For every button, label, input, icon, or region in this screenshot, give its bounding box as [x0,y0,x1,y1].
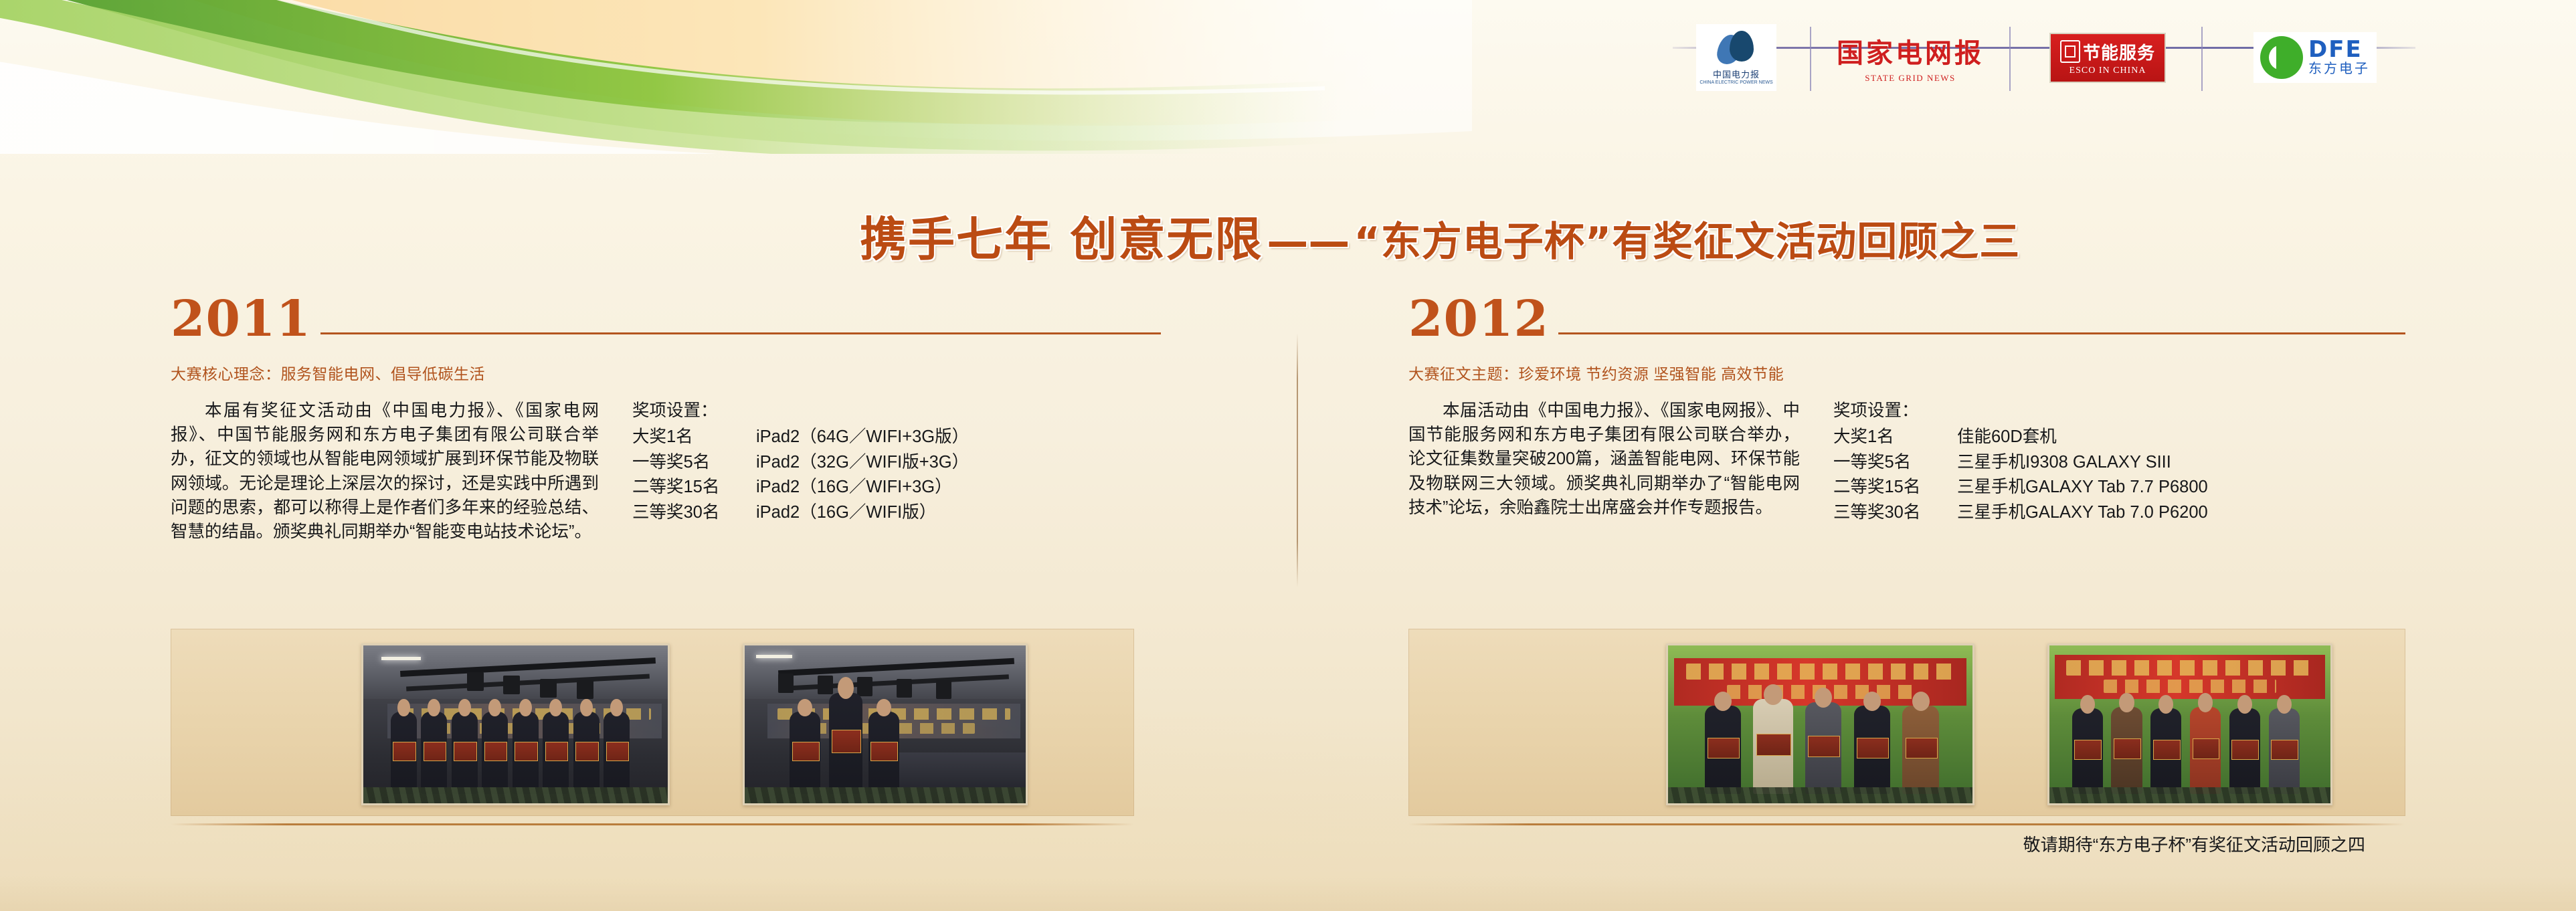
logo-separator [2201,27,2203,91]
year-label: 2011 [171,294,311,344]
award-prize: iPad2（32G／WIFI版+3G） [756,450,969,475]
poster-root: 中国电力报 CHINA ELECTRIC POWER NEWS 国家电网报 ST… [0,0,2576,911]
award-row: 一等奖5名 iPad2（32G／WIFI版+3G） [632,450,969,475]
photo-2011-2 [743,643,1028,805]
logo-en-label: DFE [2308,38,2370,61]
logo-cn-label: 国家电网报 [1837,31,1984,70]
band-rule [171,823,1134,825]
award-rank: 三等奖30名 [1833,500,1957,525]
section-theme: 大赛核心理念：服务智能电网、倡导低碳生活 [171,361,1161,384]
award-prize: iPad2（16G／WIFI版） [756,500,936,525]
photo-band-2011 [171,629,1134,816]
logo-dongfang-electronics: DFE 东方电子 [2218,24,2412,91]
award-prize: 佳能60D套机 [1957,425,2057,449]
logo-en-label: ESCO IN CHINA [2060,66,2155,76]
band-rule [1408,823,2405,825]
awards-title: 奖项设置： [632,399,969,423]
awards-list: 奖项设置： 大奖1名 佳能60D套机 一等奖5名 三星手机I9308 GALAX… [1833,399,2208,525]
esco-seal-icon [2060,40,2080,63]
logo-separator [1810,27,1811,91]
headline-dash: —— [1263,217,1354,266]
award-prize: 三星手机GALAXY Tab 7.0 P6200 [1957,500,2208,525]
section-paragraph: 本届有奖征文活动由《中国电力报》、《国家电网报》、中国节能服务网和东方电子集团有… [171,399,599,544]
dfe-e-mark-icon [2260,36,2303,79]
award-rank: 二等奖15名 [1833,475,1957,500]
logo-en-label: STATE GRID NEWS [1865,73,1956,84]
award-rank: 一等奖5名 [632,450,756,475]
logo-en-label: CHINA ELECTRIC POWER NEWS [1699,80,1772,85]
award-rank: 一等奖5名 [1833,450,1957,475]
page-title: 携手七年 创意无限——“东方电子杯”有奖征文活动回顾之三 [860,202,2020,270]
award-rank: 二等奖15名 [632,475,756,500]
logo-cn-label: 节能服务 [2083,39,2155,64]
partner-logo-bar: 中国电力报 CHINA ELECTRIC POWER NEWS 国家电网报 ST… [1673,9,2462,83]
logo-esco-in-china: 节能服务 ESCO IN CHINA [2024,24,2191,91]
footer-note: 敬请期待“东方电子杯”有奖征文活动回顾之四 [2023,831,2365,856]
paragraph-text: 本届有奖征文活动由《中国电力报》、《国家电网报》、中国节能服务网和东方电子集团有… [171,399,599,544]
award-prize: 三星手机I9308 GALAXY SIII [1957,450,2171,475]
award-prize: 三星手机GALAXY Tab 7.7 P6800 [1957,475,2208,500]
award-row: 大奖1名 佳能60D套机 [1833,425,2208,449]
paragraph-text: 本届活动由《中国电力报》、《国家电网报》、中国节能服务网和东方电子集团有限公司联… [1408,399,1800,520]
year-underline [1558,332,2405,334]
photo-band-2012 [1408,629,2405,816]
stage-banner [2055,655,2324,699]
logo-separator [2009,27,2011,91]
section-2011: 2011 大赛核心理念：服务智能电网、倡导低碳生活 本届有奖征文活动由《中国电力… [171,294,1161,544]
logo-state-grid-news: 国家电网报 STATE GRID NEWS [1823,24,1997,91]
photo-2012-1 [1666,643,1974,805]
section-2012: 2012 大赛征文主题：珍爱环境 节约资源 坚强智能 高效节能 本届活动由《中国… [1408,294,2405,525]
year-heading-row: 2011 [171,294,1161,344]
award-row: 大奖1名 iPad2（64G／WIFI+3G版） [632,425,969,449]
section-paragraph: 本届活动由《中国电力报》、《国家电网报》、中国节能服务网和东方电子集团有限公司联… [1408,399,1800,525]
award-prize: iPad2（64G／WIFI+3G版） [756,425,969,449]
headline-main: 携手七年 创意无限 [860,212,1263,267]
award-row: 三等奖30名 iPad2（16G／WIFI版） [632,500,969,525]
photo-2011-1 [361,643,670,805]
awards-list: 奖项设置： 大奖1名 iPad2（64G／WIFI+3G版） 一等奖5名 iPa… [632,399,969,544]
decorative-swoosh-group [0,0,1740,154]
award-row: 一等奖5名 三星手机I9308 GALAXY SIII [1833,450,2208,475]
award-row: 二等奖15名 三星手机GALAXY Tab 7.7 P6800 [1833,475,2208,500]
section-body: 本届活动由《中国电力报》、《国家电网报》、中国节能服务网和东方电子集团有限公司联… [1408,399,2405,525]
award-rank: 三等奖30名 [632,500,756,525]
logo-china-electric-power-news: 中国电力报 CHINA ELECTRIC POWER NEWS [1673,24,1800,91]
awards-title: 奖项设置： [1833,399,2208,423]
column-divider [1297,333,1298,587]
logo-cn-label: 东方电子 [2308,61,2370,77]
year-label: 2012 [1408,294,1549,344]
year-underline [320,332,1161,334]
award-row: 二等奖15名 iPad2（16G／WIFI+3G） [632,475,969,500]
award-prize: iPad2（16G／WIFI+3G） [756,475,952,500]
award-row: 三等奖30名 三星手机GALAXY Tab 7.0 P6200 [1833,500,2208,525]
section-theme: 大赛征文主题：珍爱环境 节约资源 坚强智能 高效节能 [1408,361,2405,384]
year-heading-row: 2012 [1408,294,2405,344]
photo-2012-2 [2047,643,2332,805]
bottom-gradient-bar [0,876,2576,911]
headline-sub: “东方电子杯”有奖征文活动回顾之三 [1354,219,2020,266]
logo-cn-label: 中国电力报 [1713,68,1760,80]
award-rank: 大奖1名 [632,425,756,449]
award-rank: 大奖1名 [1833,425,1957,449]
section-body: 本届有奖征文活动由《中国电力报》、《国家电网报》、中国节能服务网和东方电子集团有… [171,399,1161,544]
cepn-mark-icon [1716,31,1756,66]
